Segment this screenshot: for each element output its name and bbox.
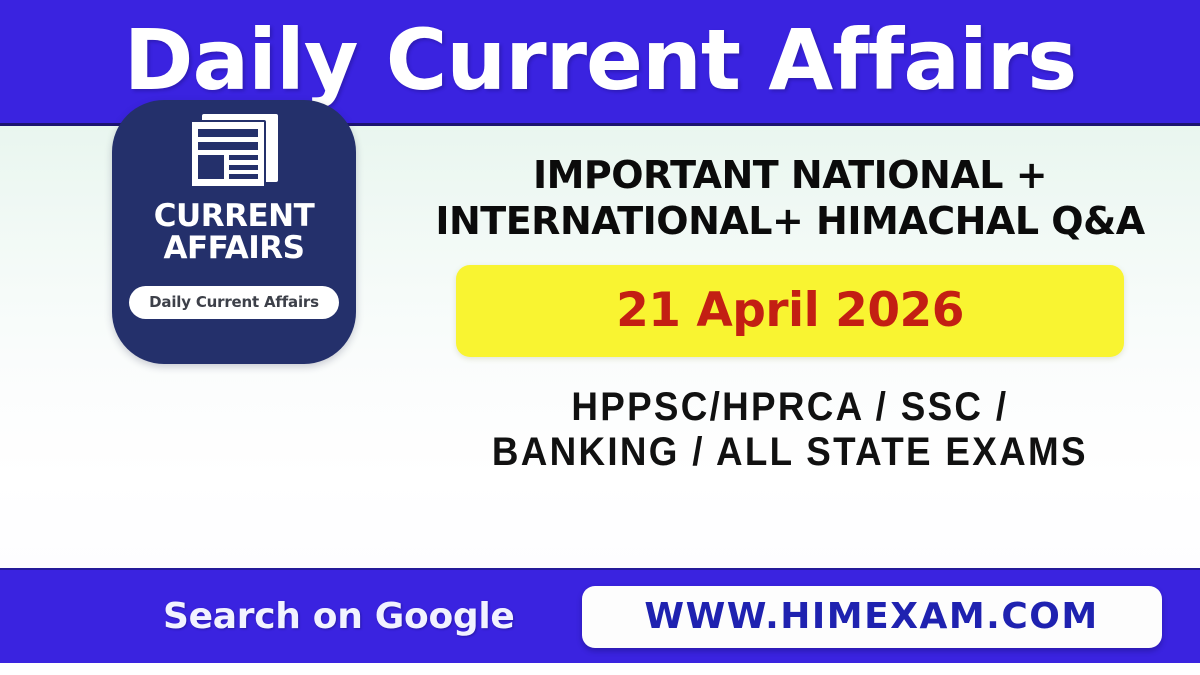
page-title: Daily Current Affairs <box>124 18 1076 102</box>
subject-heading-line-2: INTERNATIONAL+ HIMACHAL Q&A <box>380 198 1200 244</box>
subject-heading: IMPORTANT NATIONAL + INTERNATIONAL+ HIMA… <box>380 152 1200 245</box>
newspaper-image-block <box>198 155 224 179</box>
search-on-google-label: Search on Google <box>163 596 515 637</box>
newspaper-front-sheet <box>190 120 266 188</box>
current-affairs-logo-card: CURRENT AFFAIRS Daily Current Affairs <box>112 100 356 364</box>
newspaper-body <box>198 155 258 179</box>
bottom-white-strip <box>0 663 1200 675</box>
date-text: 21 April 2026 <box>616 283 964 338</box>
exam-list-line-2: BANKING / ALL STATE EXAMS <box>492 430 1088 476</box>
subject-heading-line-1: IMPORTANT NATIONAL + <box>380 152 1200 198</box>
daily-current-affairs-banner: Daily Current Affairs CURRENT AFFAIRS Da… <box>0 0 1200 675</box>
date-badge: 21 April 2026 <box>456 265 1124 357</box>
website-url-box[interactable]: WWW.HIMEXAM.COM <box>582 586 1162 648</box>
newspaper-text-lines <box>229 155 258 179</box>
newspaper-headline-bar-2 <box>198 142 258 150</box>
logo-title: CURRENT AFFAIRS <box>154 201 314 264</box>
newspaper-headline-bar-1 <box>198 129 258 137</box>
footer-band: Search on Google WWW.HIMEXAM.COM <box>0 568 1200 663</box>
logo-title-line-1: CURRENT <box>154 201 314 233</box>
logo-title-line-2: AFFAIRS <box>154 233 314 265</box>
exam-list: HPPSC/HPRCA / SSC / BANKING / ALL STATE … <box>492 385 1088 476</box>
website-url-text: WWW.HIMEXAM.COM <box>644 596 1098 637</box>
newspaper-icon <box>188 114 280 188</box>
exam-list-line-1: HPPSC/HPRCA / SSC / <box>492 385 1088 431</box>
main-content: IMPORTANT NATIONAL + INTERNATIONAL+ HIMA… <box>380 126 1200 568</box>
logo-subtitle-pill: Daily Current Affairs <box>129 286 339 319</box>
